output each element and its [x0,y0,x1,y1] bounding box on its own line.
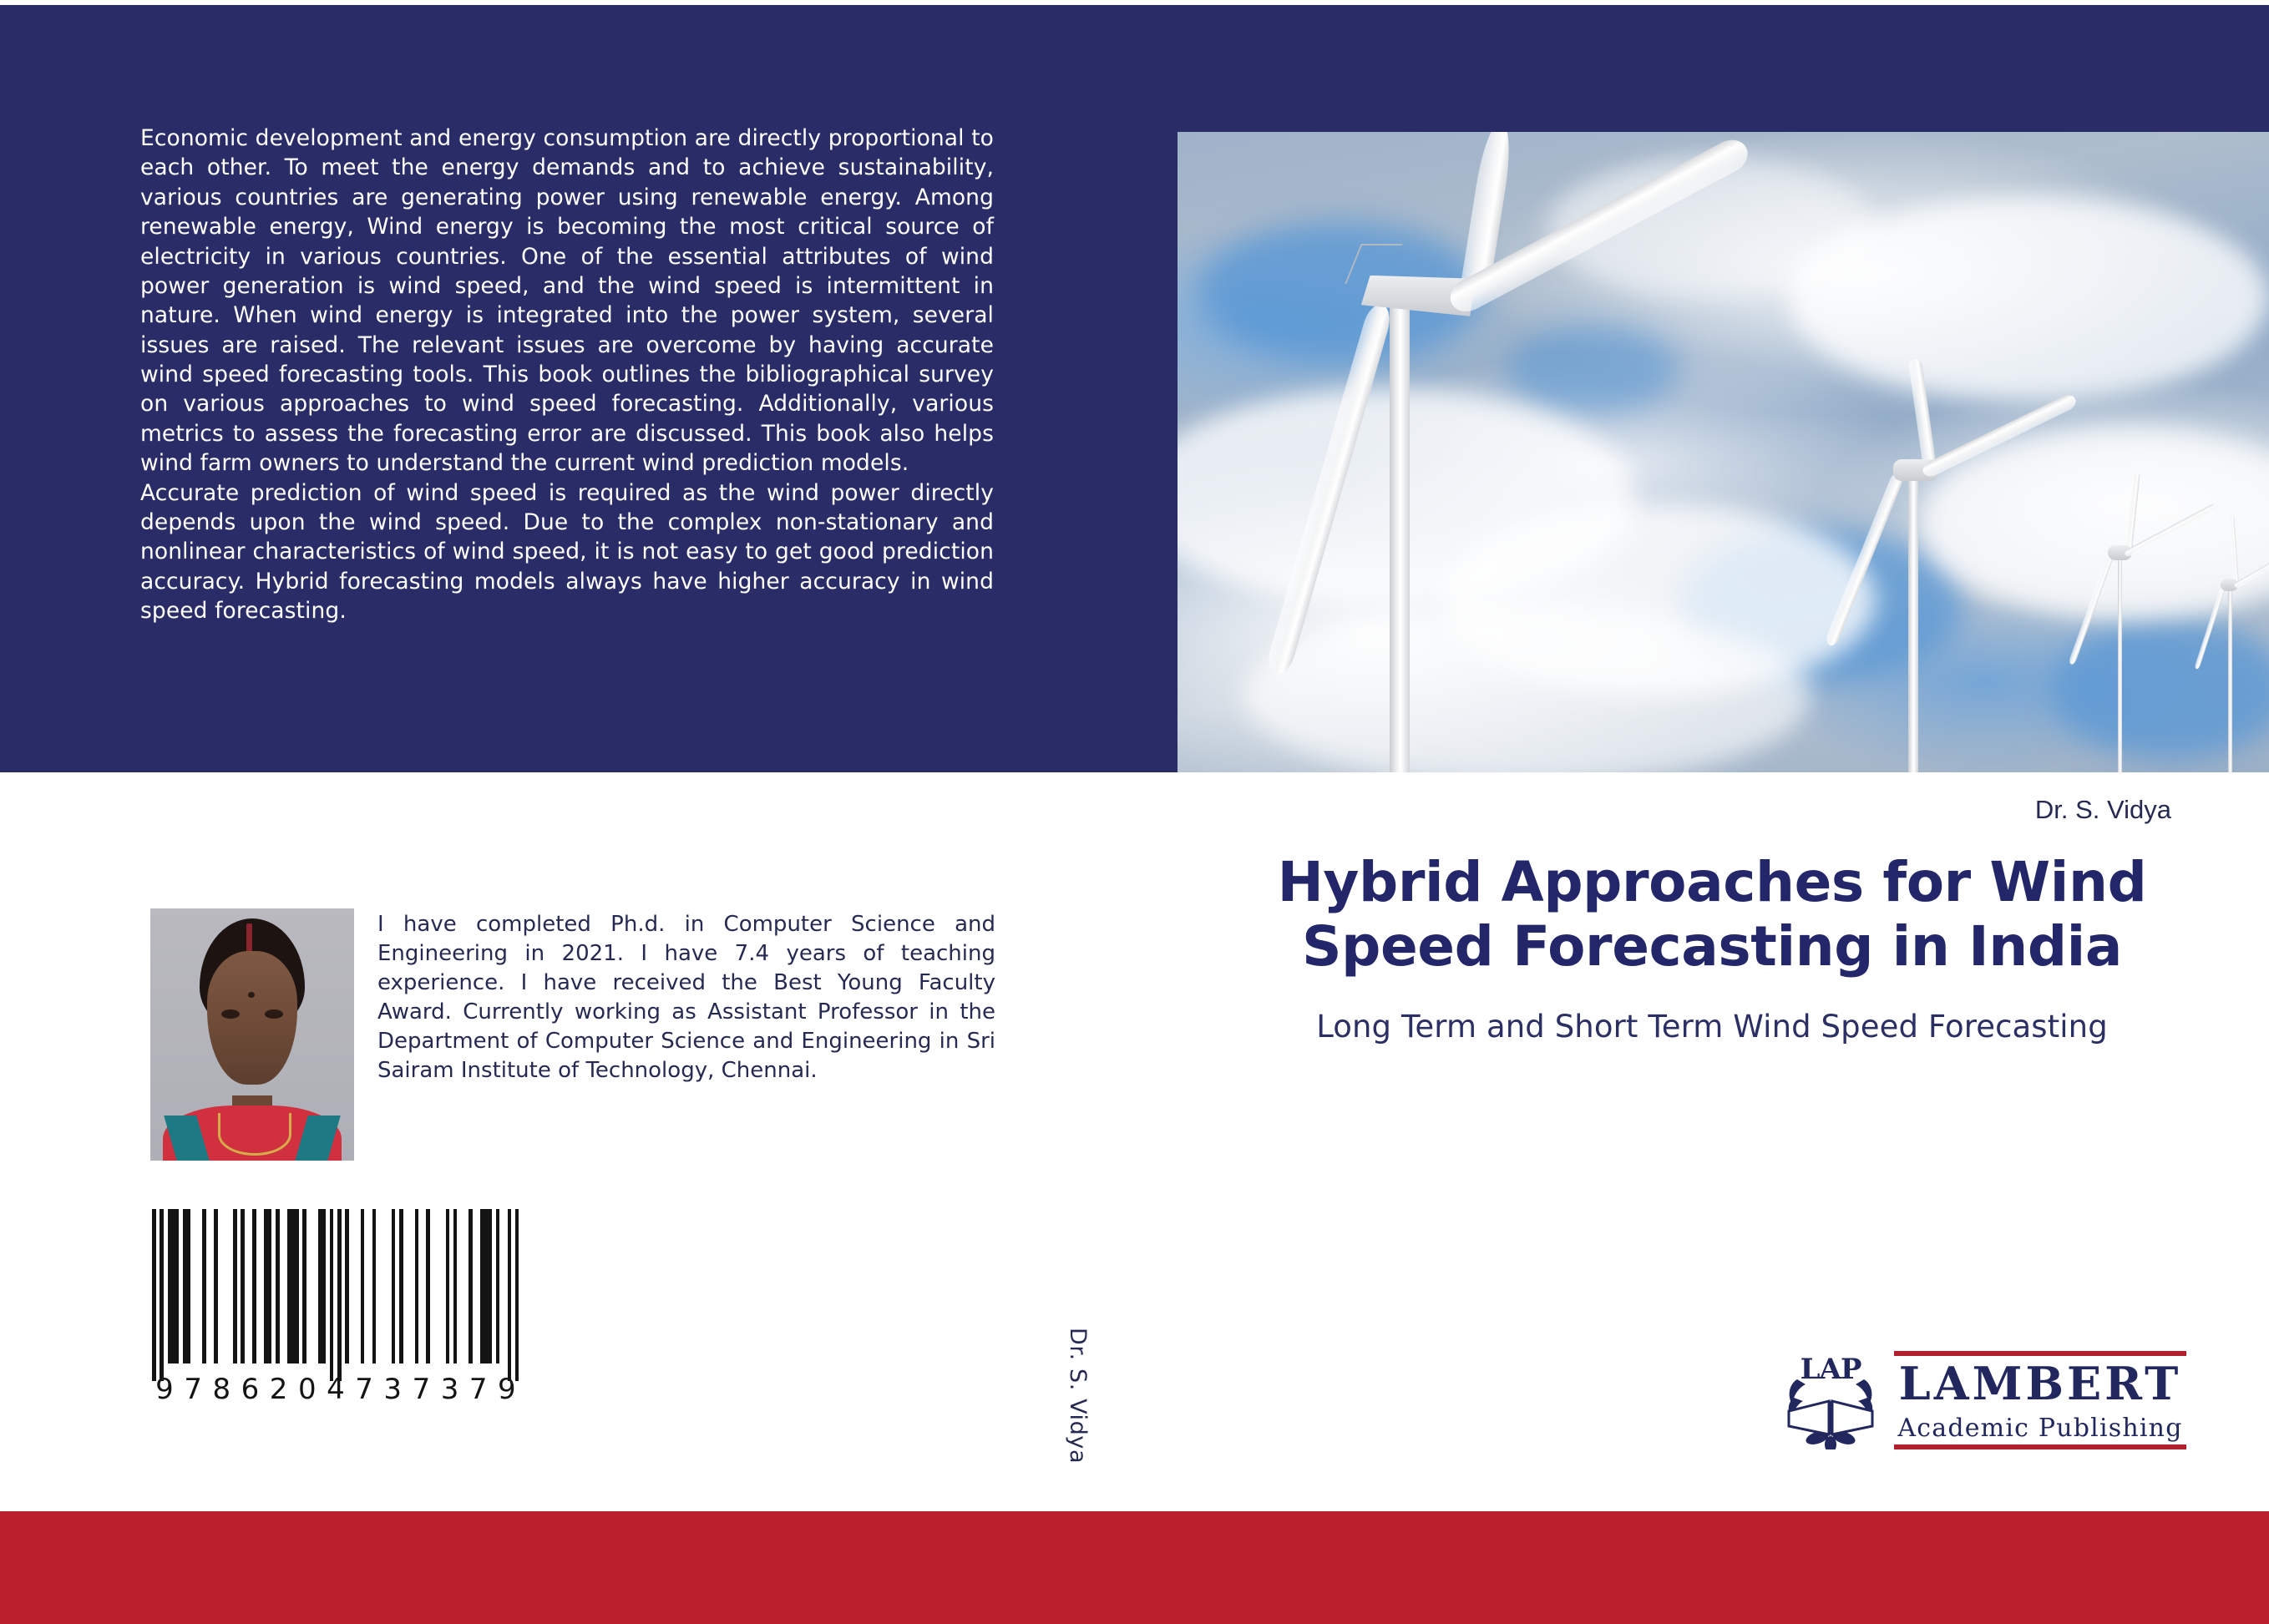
back-cover-blurb: Economic development and energy consumpt… [140,124,994,625]
author-bio: I have completed Ph.d. in Computer Scien… [377,910,995,1085]
turbine-blade [1908,358,1937,469]
barcode-digit: 9 [494,1373,519,1406]
barcode-digit: 7 [352,1373,377,1406]
front-cover-title: Hybrid Approaches for Wind Speed Forecas… [1236,850,2188,979]
bottom-red-band [0,1511,2269,1624]
publisher-tagline: Academic Publishing [1894,1416,2186,1441]
publisher-name: LAMBERT [1894,1361,2186,1406]
front-cover-subtitle: Long Term and Short Term Wind Speed Fore… [1236,1009,2188,1045]
blurb-paragraph-2: Accurate prediction of wind speed is req… [140,478,994,626]
isbn-barcode: 9786204737379 [152,1209,519,1424]
barcode-digit: 7 [180,1373,205,1406]
barcode-digit: 2 [266,1373,291,1406]
turbine-blade [2068,553,2114,665]
barcode-digits: 9786204737379 [152,1373,519,1406]
logo-rule-bottom [1894,1444,2186,1449]
barcode-digit: 3 [438,1373,463,1406]
barcode-bar [515,1209,519,1381]
barcode-digit: 3 [380,1373,405,1406]
title-line-1: Hybrid Approaches for Wind [1236,850,2188,914]
photo-eye-left [221,1009,240,1019]
turbine-mast [2118,557,2123,772]
turbine-blade [1264,301,1395,678]
turbine-blade [2230,514,2240,584]
barcode-digit: 9 [152,1373,177,1406]
turbine-mast [2228,589,2231,772]
lap-book-laurel-icon: LAP [1780,1351,1881,1449]
photo-necklace [218,1113,292,1156]
cover-photo-wind-turbines [1178,132,2269,772]
barcode-bars [152,1209,519,1381]
barcode-digit: 8 [209,1373,234,1406]
barcode-digit: 7 [408,1373,433,1406]
publisher-name-block: LAMBERT Academic Publishing [1894,1351,2186,1449]
top-white-edge [0,0,2269,5]
barcode-digit: 6 [237,1373,262,1406]
turbine-blade [1824,470,1905,647]
barcode-digit: 0 [295,1373,320,1406]
author-photo [150,908,354,1161]
turbine-mast [1390,305,1410,772]
publisher-logo: LAP LAMBERT Academic Publishing [1780,1346,2186,1456]
lap-acronym: LAP [1780,1353,1881,1386]
title-line-2: Speed Forecasting in India [1236,914,2188,979]
blurb-paragraph-1: Economic development and energy consumpt… [140,124,994,478]
turbine-blade [2233,544,2269,589]
book-cover: Economic development and energy consumpt… [0,0,2269,1624]
turbine-mast [1908,477,1918,772]
photo-eye-right [265,1009,283,1019]
turbine-blade [2194,586,2225,670]
front-cover-author: Dr. S. Vidya [1236,795,2171,825]
barcode-digit: 4 [323,1373,348,1406]
barcode-digit: 7 [466,1373,491,1406]
logo-rule-top [1894,1351,2186,1356]
wind-turbine-far-2 [2138,503,2269,772]
photo-face [207,951,296,1085]
wind-turbine-foreground [1199,132,1767,772]
